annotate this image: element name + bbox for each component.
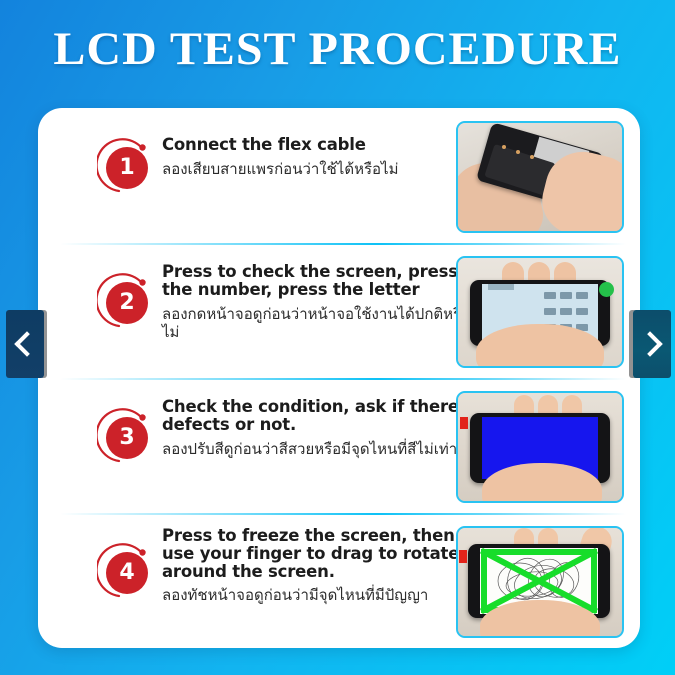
step-badge: 3 [97,408,155,466]
photo-dialer-keypad-test [456,256,624,368]
prev-slide-button[interactable] [6,310,44,378]
next-slide-button[interactable] [633,310,671,378]
photo-flex-cable-connect [456,121,624,233]
badge-circle: 2 [106,282,148,324]
list-item: 1 Connect the flex cable ลองเสียบสายแพรก… [38,108,640,243]
step-title-th: ลองทัชหน้าจอดูก่อนว่ามีจุดไหนที่มีปัญญา [162,587,482,606]
list-item: 3 Check the condition, ask if there defe… [38,378,640,513]
steps-list: 1 Connect the flex cable ลองเสียบสายแพรก… [38,108,640,648]
step-title-th: ลองปรับสีดูก่อนว่าสีสวยหรือมีจุดไหนที่สี… [162,441,482,460]
step-text-block: Check the condition, ask if there defect… [162,398,482,459]
page-title: LCD TEST PROCEDURE [53,22,621,76]
list-item: 2 Press to check the screen, press the n… [38,243,640,378]
step-text-block: Press to freeze the screen, then use you… [162,527,482,606]
slide-page: LCD TEST PROCEDURE 1 Connect the flex ca… [0,0,675,675]
step-title-th: ลองเสียบสายแพรก่อนว่าใช้ได้หรือไม่ [162,161,482,180]
row-divider [60,513,626,515]
row-divider [60,243,626,245]
step-text-block: Press to check the screen, press the num… [162,263,482,343]
row-divider [60,378,626,380]
badge-circle: 4 [106,552,148,594]
page-title-bar: LCD TEST PROCEDURE [0,22,675,76]
steps-card: 1 Connect the flex cable ลองเสียบสายแพรก… [38,108,640,648]
step-text-block: Connect the flex cable ลองเสียบสายแพรก่อ… [162,136,482,180]
badge-circle: 1 [106,147,148,189]
step-number: 3 [119,427,134,450]
step-badge: 4 [97,543,155,601]
step-badge: 1 [97,138,155,196]
badge-circle: 3 [106,417,148,459]
step-title-en: Connect the flex cable [162,136,482,154]
step-number: 2 [119,292,134,315]
chevron-right-icon [637,331,662,356]
chevron-left-icon [14,331,39,356]
step-title-en: Press to freeze the screen, then use you… [162,527,482,580]
step-title-en: Check the condition, ask if there defect… [162,398,482,434]
step-title-en: Press to check the screen, press the num… [162,263,482,299]
step-number: 1 [119,157,134,180]
photo-touch-drag-test [456,526,624,638]
list-item: 4 Press to freeze the screen, then use y… [38,513,640,648]
step-number: 4 [119,562,134,585]
step-title-th: ลองกดหน้าจอดูก่อนว่าหน้าจอใช้งานได้ปกติห… [162,306,482,344]
step-badge: 2 [97,273,155,331]
photo-blue-screen-color-test [456,391,624,503]
